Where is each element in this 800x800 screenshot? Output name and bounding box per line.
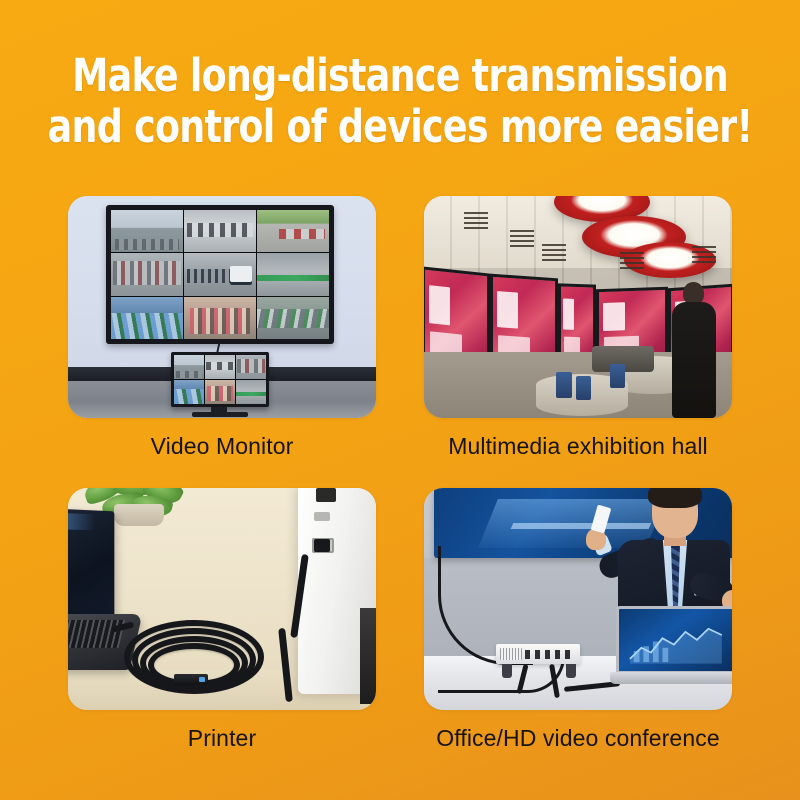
cctv-grid-small [174,355,266,404]
usb-connector [174,674,208,685]
feature-card-video-monitor: Video Monitor [68,196,376,459]
cctv-tile [111,297,183,339]
caption-video-monitor: Video Monitor [68,433,376,459]
blue-exhibit [610,364,625,388]
mini-pc-stand [502,664,512,678]
photo-video-conference [424,488,732,710]
caption-printer: Printer [68,725,376,751]
headline-line-1: Make long-distance transmission [40,50,760,101]
laptop-device [610,606,732,692]
laptop-base [610,672,732,684]
cctv-tile [184,297,256,339]
cctv-tile [184,253,256,295]
mini-pc-stand [566,664,576,678]
cctv-tile [205,355,235,379]
feature-card-printer: Printer [68,488,376,751]
cctv-tile [184,210,256,252]
photo-exhibition-hall [424,196,732,418]
feature-card-grid: Video Monitor [68,196,732,752]
headline-line-2: and control of devices more easier! [40,101,760,152]
cctv-tile [111,210,183,252]
wall-sign [510,230,534,247]
laptop-screen [616,606,732,674]
vent-grille [500,648,522,660]
cctv-tile [111,253,183,295]
photo-video-monitor [68,196,376,418]
blue-exhibit [556,372,572,398]
caption-exhibition-hall: Multimedia exhibition hall [424,433,732,459]
cctv-tile [257,297,329,339]
cctv-tile [205,380,235,404]
photo-printer [68,488,376,710]
cctv-tile [257,253,329,295]
mini-pc [496,644,580,664]
cctv-tile [174,355,204,379]
wall-sign [464,212,488,229]
laptop-screen [68,509,114,622]
laptop-chart-graphic [628,624,724,664]
monitor-base [192,412,248,417]
cctv-tile [236,355,266,379]
printer-usb-port [312,538,334,553]
visitor-body [672,302,716,418]
printer-rear-panel [360,608,376,704]
cctv-tile [236,380,266,404]
feature-card-exhibition-hall: Multimedia exhibition hall [424,196,732,459]
usb-plug [314,539,330,552]
printer-control-panel [316,488,336,502]
laptop-keyboard [68,620,125,648]
page-title: Make long-distance transmission and cont… [40,50,760,152]
desktop-monitor [171,352,269,407]
cctv-grid [111,210,329,339]
video-wall-tv [106,205,334,344]
presenter-hair [648,488,702,508]
visitor-figure [672,282,716,418]
cctv-tile [257,210,329,252]
blue-exhibit [576,376,591,400]
feature-card-video-conference: Office/HD video conference [424,488,732,751]
promo-banner: Make long-distance transmission and cont… [0,0,800,800]
port-row [525,650,575,659]
caption-video-conference: Office/HD video conference [424,725,732,751]
cctv-tile [174,380,204,404]
printer-port-upper [314,512,330,521]
plant-pot [114,504,164,526]
